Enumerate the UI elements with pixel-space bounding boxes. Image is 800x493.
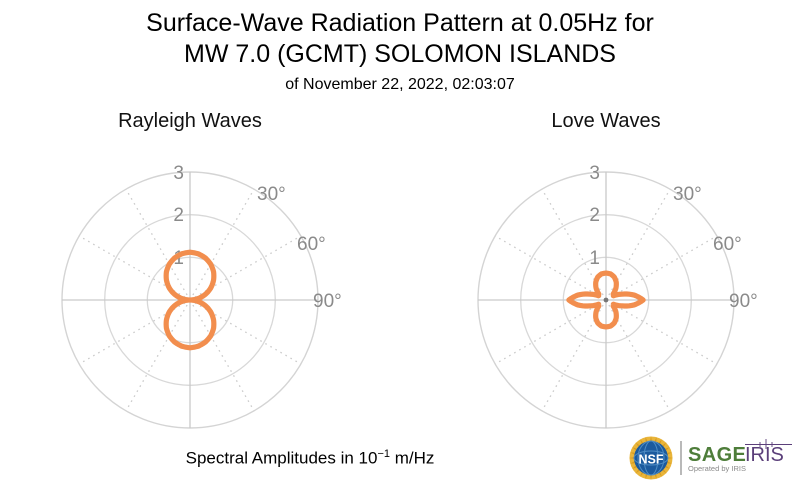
iris-wordmark: IRIS (745, 444, 784, 466)
polar-origin-marker (604, 298, 609, 303)
radial-tick-labels-love: 1 2 3 (589, 163, 600, 269)
angular-tick-90: 90° (313, 291, 342, 312)
figure-caption: Spectral Amplitudes in 10−1 m/Hz (0, 448, 620, 469)
angular-tick-30: 30° (257, 184, 286, 205)
radial-tick-1: 1 (589, 248, 600, 269)
panel-title-love: Love Waves (441, 108, 771, 134)
sage-wordmark: SAGE (688, 444, 746, 466)
figure-title-block: Surface-Wave Radiation Pattern at 0.05Hz… (0, 8, 800, 96)
figure-title-line-2: MW 7.0 (GCMT) SOLOMON ISLANDS (0, 39, 800, 70)
angular-tick-30: 30° (673, 184, 702, 205)
polar-svg-rayleigh: 1 2 3 30° 60° 90° (25, 138, 355, 468)
radial-tick-3: 3 (589, 163, 600, 184)
angular-tick-60: 60° (297, 234, 326, 255)
radial-tick-2: 2 (589, 205, 600, 226)
angular-tick-90: 90° (729, 291, 758, 312)
figure-canvas: Surface-Wave Radiation Pattern at 0.05Hz… (0, 0, 800, 493)
logo-group: NSF SAGE IRIS Operated by IRIS (628, 430, 796, 486)
polar-plot-rayleigh: 1 2 3 30° 60° 90° (25, 138, 355, 473)
caption-suffix: m/Hz (390, 449, 434, 468)
logo-divider (680, 441, 682, 475)
caption-prefix: Spectral Amplitudes in 10 (186, 449, 378, 468)
polar-svg-love: 1 2 3 30° 60° 90° (441, 138, 771, 468)
angular-tick-labels-rayleigh: 30° 60° 90° (257, 184, 342, 312)
angular-tick-60: 60° (713, 234, 742, 255)
sage-iris-logo[interactable]: SAGE IRIS Operated by IRIS (688, 437, 796, 479)
radial-tick-3: 3 (173, 163, 184, 184)
panel-title-rayleigh: Rayleigh Waves (25, 108, 355, 134)
operated-by-label: Operated by IRIS (688, 464, 746, 473)
nsf-logo[interactable]: NSF (628, 435, 674, 481)
angular-tick-labels-love: 30° 60° 90° (673, 184, 758, 312)
polar-plot-love: 1 2 3 30° 60° 90° (441, 138, 771, 473)
figure-subtitle: of November 22, 2022, 02:03:07 (0, 74, 800, 96)
polar-grid-love (478, 172, 734, 428)
radial-tick-2: 2 (173, 205, 184, 226)
caption-exponent: −1 (377, 448, 390, 460)
nsf-wordmark: NSF (639, 453, 664, 467)
figure-title-line-1: Surface-Wave Radiation Pattern at 0.05Hz… (0, 8, 800, 39)
